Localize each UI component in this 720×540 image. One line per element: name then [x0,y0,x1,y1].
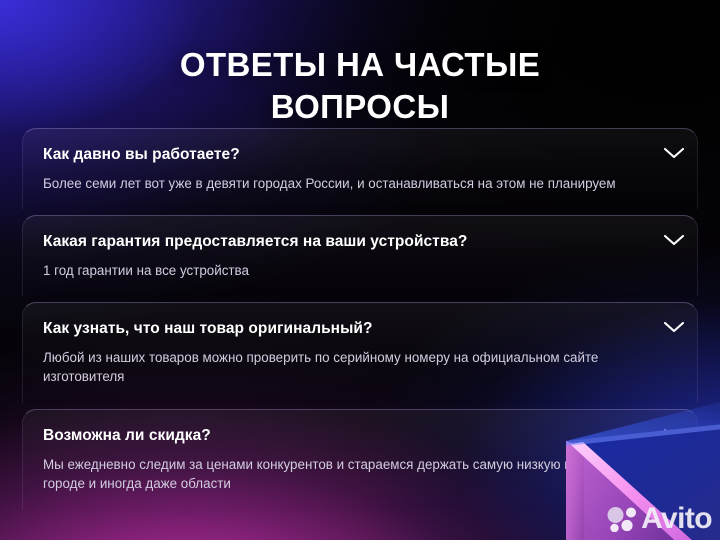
avito-dots-icon [607,506,637,532]
chevron-down-icon[interactable] [663,146,685,160]
chevron-down-icon[interactable] [663,233,685,247]
faq-accordion: Как давно вы работаете? Более семи лет в… [22,128,698,510]
faq-item[interactable]: Какая гарантия предоставляется на ваши у… [22,215,698,296]
faq-item[interactable]: Как узнать, что наш товар оригинальный? … [22,302,698,403]
faq-answer: 1 год гарантии на все устройства [43,261,633,281]
faq-question: Как давно вы работаете? [43,146,653,165]
faq-answer: Более семи лет вот уже в девяти городах … [43,174,633,194]
faq-answer: Мы ежедневно следим за ценами конкуренто… [43,455,633,494]
faq-question: Как узнать, что наш товар оригинальный? [43,320,653,339]
faq-screen: ОТВЕТЫ НА ЧАСТЫЕ ВОПРОСЫ Как давно вы ра… [0,0,720,540]
chevron-down-icon[interactable] [663,427,685,441]
page-title-line-1: ОТВЕТЫ НА ЧАСТЫЕ [180,46,540,83]
avito-wordmark: Avito [641,504,712,534]
faq-item[interactable]: Как давно вы работаете? Более семи лет в… [22,128,698,209]
page-title: ОТВЕТЫ НА ЧАСТЫЕ ВОПРОСЫ [0,44,720,127]
faq-answer: Любой из наших товаров можно проверить п… [43,348,633,387]
page-title-line-2: ВОПРОСЫ [271,88,450,125]
chevron-down-icon[interactable] [663,320,685,334]
avito-watermark: Avito [607,504,712,534]
faq-question: Возможна ли скидка? [43,427,653,446]
faq-item[interactable]: Возможна ли скидка? Мы ежедневно следим … [22,409,698,510]
faq-question: Какая гарантия предоставляется на ваши у… [43,233,653,252]
